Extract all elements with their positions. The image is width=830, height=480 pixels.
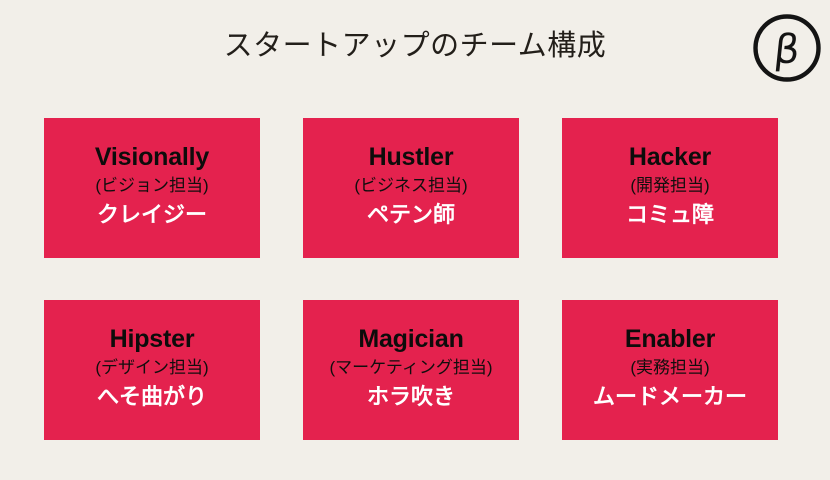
role-nickname: ペテン師 xyxy=(367,201,455,229)
role-duty: (実務担当) xyxy=(630,356,709,380)
role-title: Hustler xyxy=(369,143,454,171)
role-card[interactable]: Magician (マーケティング担当) ホラ吹き xyxy=(303,300,519,440)
role-duty: (開発担当) xyxy=(630,174,709,198)
role-nickname: クレイジー xyxy=(97,201,207,229)
role-title: Magician xyxy=(358,325,463,353)
role-card[interactable]: Hacker (開発担当) コミュ障 xyxy=(562,118,778,258)
page-title: スタートアップのチーム構成 xyxy=(0,23,830,69)
role-card[interactable]: Visionally (ビジョン担当) クレイジー xyxy=(44,118,260,258)
role-nickname: コミュ障 xyxy=(626,201,714,229)
role-duty: (マーケティング担当) xyxy=(330,356,493,380)
role-title: Visionally xyxy=(95,143,209,171)
role-card[interactable]: Hipster (デザイン担当) へそ曲がり xyxy=(44,300,260,440)
role-title: Hacker xyxy=(629,143,711,171)
role-title: Hipster xyxy=(110,325,195,353)
slide-canvas: スタートアップのチーム構成 β Visionally (ビジョン担当) クレイジ… xyxy=(0,0,830,480)
svg-text:β: β xyxy=(772,27,802,73)
role-nickname: ムードメーカー xyxy=(593,383,747,411)
role-duty: (デザイン担当) xyxy=(95,356,208,380)
role-duty: (ビジョン担当) xyxy=(95,174,208,198)
role-nickname: へそ曲がり xyxy=(97,383,207,411)
role-nickname: ホラ吹き xyxy=(367,383,455,411)
role-card-grid: Visionally (ビジョン担当) クレイジー Hustler (ビジネス担… xyxy=(44,118,786,440)
role-card[interactable]: Enabler (実務担当) ムードメーカー xyxy=(562,300,778,440)
role-title: Enabler xyxy=(625,325,715,353)
beta-circle-logo-icon: β xyxy=(752,13,822,83)
role-card[interactable]: Hustler (ビジネス担当) ペテン師 xyxy=(303,118,519,258)
role-duty: (ビジネス担当) xyxy=(354,174,467,198)
